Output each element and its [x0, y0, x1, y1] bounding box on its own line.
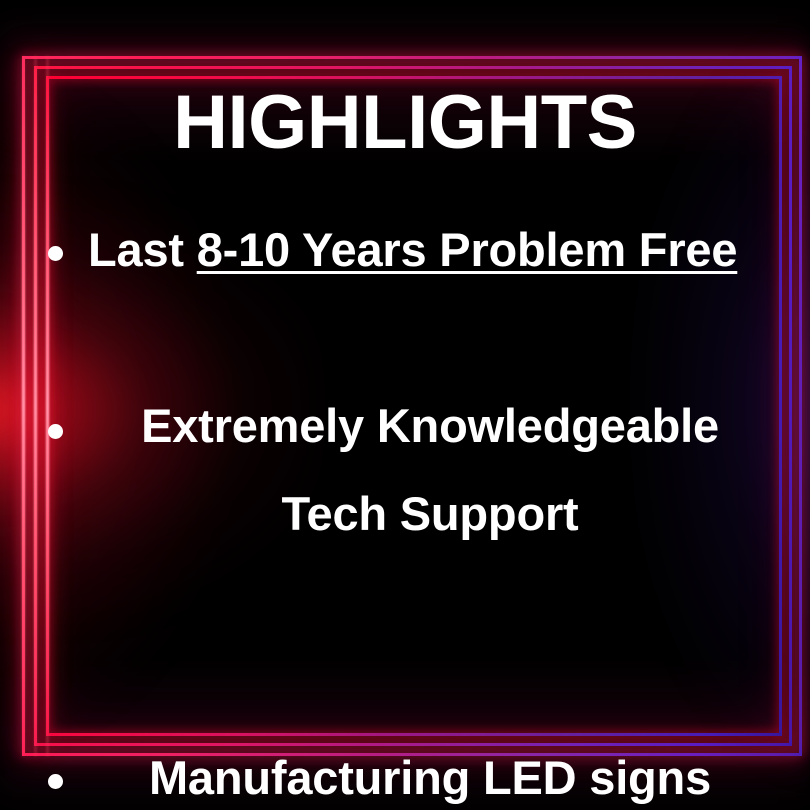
bullet-dot-icon	[48, 424, 63, 439]
bullet-dot-icon	[48, 774, 63, 789]
highlights-list: Last 8-10 Years Problem Free Extremely K…	[0, 212, 810, 742]
list-item-text: Last 8-10 Years Problem Free	[88, 226, 778, 273]
list-item: 5 Year Warranty	[0, 652, 810, 742]
list-item: Last 8-10 Years Problem Free	[0, 212, 810, 302]
list-item-text-line1: Manufacturing LED signs	[90, 754, 770, 801]
list-item-text-line1: Extremely Knowledgeable	[100, 402, 760, 449]
poster-content: HIGHLIGHTS Last 8-10 Years Problem Free …	[0, 0, 810, 810]
list-item-text-underlined: 8-10 Years Problem Free	[197, 223, 738, 276]
list-item: Extremely Knowledgeable Tech Support	[0, 302, 810, 482]
highlights-poster: HIGHLIGHTS Last 8-10 Years Problem Free …	[0, 0, 810, 810]
bullet-dot-icon	[48, 246, 63, 261]
page-title: HIGHLIGHTS	[0, 85, 810, 161]
list-item-text-prefix: Last	[88, 223, 197, 276]
list-item: Manufacturing LED signs over 15 years	[0, 482, 810, 652]
